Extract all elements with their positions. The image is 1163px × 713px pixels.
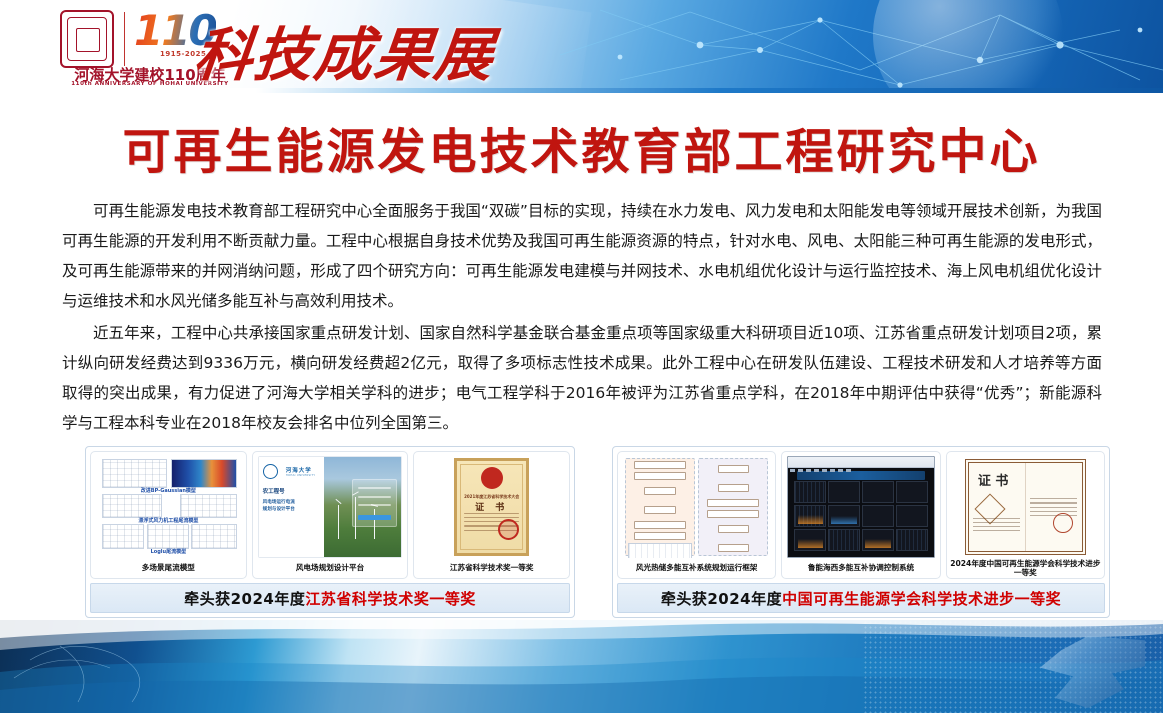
banner-highlight: 江苏省科学技术奖一等奖 (305, 588, 476, 609)
card-row: 风光热储多能互补系统规划运行框架 (617, 451, 1105, 579)
platform-subtitle: 农工程号 (263, 487, 321, 495)
paragraph-1: 可再生能源发电技术教育部工程研究中心全面服务于我国“双碳”目标的实现，持续在水力… (62, 196, 1102, 316)
thumbnail-scada-system (787, 456, 934, 558)
banner-prefix: 牵头获2024年度 (661, 588, 782, 609)
certificate-title: 证 书 (457, 500, 526, 513)
thumb-label: 漂浮式风力机工程尾流模型 (96, 517, 241, 524)
achievement-card[interactable]: 2021年度江苏省科学技术大会 证 书 江苏省科学技术奖一等奖 (413, 451, 570, 579)
thumbnail-multi-energy-framework (623, 456, 770, 558)
achievement-group-jiangsu: 改进BP-Gaussian模型 漂浮式风力机工程尾流模型 Loglu尾流模型 多… (85, 446, 575, 618)
card-caption: 鲁能海西多能互补协调控制系统 (782, 559, 939, 578)
card-caption: 江苏省科学技术奖一等奖 (414, 559, 569, 578)
platform-university-en: HOHAI UNIVERSITY (286, 474, 316, 477)
platform-login-button[interactable] (358, 515, 392, 520)
achievement-card[interactable]: 证 书 202 (946, 451, 1105, 579)
card-caption: 多场景尾流模型 (91, 559, 246, 578)
official-seal-icon (1053, 513, 1073, 533)
card-row: 改进BP-Gaussian模型 漂浮式风力机工程尾流模型 Loglu尾流模型 多… (90, 451, 570, 579)
banner-prefix: 牵头获2024年度 (184, 588, 305, 609)
achievement-card[interactable]: 改进BP-Gaussian模型 漂浮式风力机工程尾流模型 Loglu尾流模型 多… (90, 451, 247, 579)
platform-line-1: 风电场运行电流 (263, 500, 295, 505)
footer-banner (0, 620, 1163, 713)
platform-login-box (352, 479, 396, 527)
hohai-logo-icon (263, 464, 278, 479)
platform-university-name: 河海大学 (286, 466, 316, 474)
header-bottom-strip (0, 88, 1163, 93)
page-title: 可再生能源发电技术教育部工程研究中心 (0, 112, 1163, 182)
certificate-title: 证 书 (978, 470, 1009, 489)
achievements-showcase: 改进BP-Gaussian模型 漂浮式风力机工程尾流模型 Loglu尾流模型 多… (0, 446, 1163, 618)
thumb-label: 改进BP-Gaussian模型 (96, 487, 241, 494)
achievement-card[interactable]: 河海大学 HOHAI UNIVERSITY 农工程号 风电场运行电流 规划与设计… (252, 451, 409, 579)
achievement-card[interactable]: 风光热储多能互补系统规划运行框架 (617, 451, 776, 579)
paragraph-2: 近五年来，工程中心共承接国家重点研发计划、国家自然科学基金联合基金重点项等国家级… (62, 318, 1102, 438)
logo-divider (124, 12, 125, 66)
header-banner: 110 1915-2025 河海大学建校110周年 110th ANNIVERS… (0, 0, 1163, 93)
globe-decoration-icon (873, 0, 1063, 93)
achievement-group-cres: 风光热储多能互补系统规划运行框架 (612, 446, 1110, 618)
thumbnail-wake-models: 改进BP-Gaussian模型 漂浮式风力机工程尾流模型 Loglu尾流模型 (96, 456, 241, 558)
achievement-card[interactable]: 鲁能海西多能互补协调控制系统 (781, 451, 940, 579)
certificate-image: 证 书 (965, 459, 1086, 555)
hohai-seal-icon (60, 10, 114, 68)
description-text: 可再生能源发电技术教育部工程研究中心全面服务于我国“双碳”目标的实现，持续在水力… (62, 196, 1102, 440)
card-caption: 2024年度中国可再生能源学会科学技术进步一等奖 (947, 559, 1104, 578)
thumbnail-cres-certificate: 证 书 (952, 456, 1099, 558)
poster-page: 110 1915-2025 河海大学建校110周年 110th ANNIVERS… (0, 0, 1163, 713)
banner-highlight: 中国可再生能源学会科学技术进步一等奖 (782, 588, 1061, 609)
exhibition-title: 科技成果展 (191, 8, 500, 92)
group-banner: 牵头获2024年度江苏省科学技术奖一等奖 (90, 583, 570, 613)
thumbnail-jiangsu-certificate: 2021年度江苏省科学技术大会 证 书 (419, 456, 564, 558)
thumb-label: Loglu尾流模型 (96, 548, 241, 555)
card-caption: 风光热储多能互补系统规划运行框架 (618, 559, 775, 578)
certificate-image: 2021年度江苏省科学技术大会 证 书 (454, 458, 529, 556)
national-emblem-icon (481, 467, 503, 489)
platform-line-2: 规划与设计平台 (263, 507, 295, 512)
official-seal-icon (498, 519, 519, 540)
card-caption: 风电场规划设计平台 (253, 559, 408, 578)
thumbnail-wind-farm-platform: 河海大学 HOHAI UNIVERSITY 农工程号 风电场运行电流 规划与设计… (258, 456, 403, 558)
group-banner: 牵头获2024年度中国可再生能源学会科学技术进步一等奖 (617, 583, 1105, 613)
